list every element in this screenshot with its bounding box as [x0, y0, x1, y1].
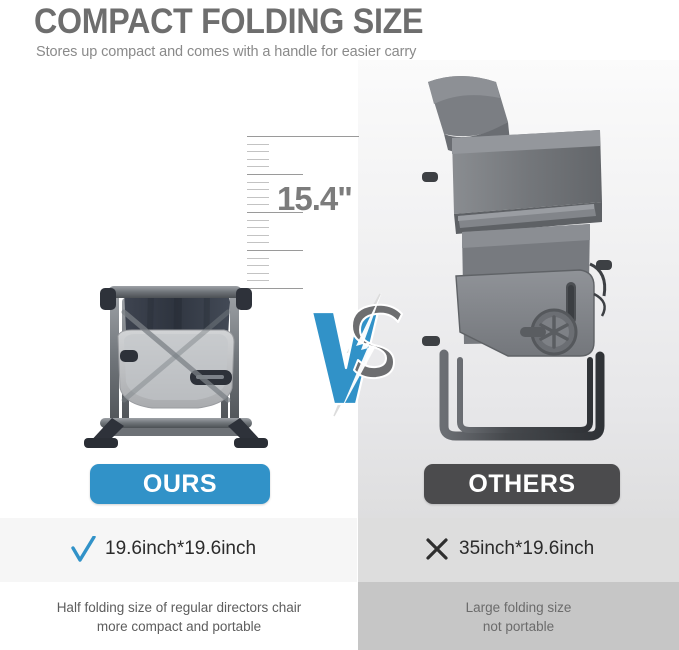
others-dimension-text: 35inch*19.6inch — [459, 538, 594, 560]
ruler-minor-tick — [247, 204, 269, 205]
ours-note: Half folding size of regular directors c… — [0, 598, 358, 636]
others-badge-label: OTHERS — [468, 470, 575, 499]
folded-camping-chair-compact-icon — [78, 276, 274, 452]
page-title: COMPACT FOLDING SIZE — [34, 2, 423, 42]
others-note-line2: not portable — [358, 617, 679, 636]
ruler-minor-tick — [247, 182, 269, 183]
ours-note-line2: more compact and portable — [0, 617, 358, 636]
ruler-minor-tick — [247, 151, 269, 152]
folded-directors-chair-tall-icon — [404, 64, 640, 456]
ruler-minor-tick — [247, 242, 269, 243]
ruler-minor-tick — [247, 197, 269, 198]
ruler-minor-tick — [247, 258, 269, 259]
ours-note-line1: Half folding size of regular directors c… — [0, 598, 358, 617]
ours-product-image — [78, 276, 274, 452]
comparison-infographic: COMPACT FOLDING SIZE Stores up compact a… — [0, 0, 679, 650]
cross-icon — [424, 536, 450, 562]
ruler-major-rule — [247, 250, 303, 251]
others-product-image — [404, 64, 640, 456]
ours-dimension-text: 19.6inch*19.6inch — [105, 538, 256, 560]
others-dimension-row: 35inch*19.6inch — [424, 536, 594, 562]
others-note: Large folding size not portable — [358, 598, 679, 636]
ours-badge-label: OURS — [143, 470, 217, 499]
ruler-minor-tick — [247, 265, 269, 266]
ours-badge[interactable]: OURS — [90, 464, 270, 504]
ruler-minor-tick — [247, 227, 269, 228]
ruler-minor-tick — [247, 144, 269, 145]
others-note-line1: Large folding size — [358, 598, 679, 617]
ruler-minor-tick — [247, 273, 269, 274]
ruler-major-rule — [247, 174, 303, 175]
page-subtitle: Stores up compact and comes with a handl… — [36, 44, 416, 60]
ruler-major-rule — [247, 136, 359, 137]
ruler-minor-tick — [247, 159, 269, 160]
ruler-minor-tick — [247, 220, 269, 221]
versus-lightning-icon — [306, 292, 410, 418]
measurement-label: 15.4" — [277, 180, 352, 218]
check-icon — [70, 536, 96, 562]
ours-dimension-row: 19.6inch*19.6inch — [70, 536, 256, 562]
others-badge[interactable]: OTHERS — [424, 464, 620, 504]
ruler-minor-tick — [247, 189, 269, 190]
ruler-minor-tick — [247, 166, 269, 167]
ruler-minor-tick — [247, 235, 269, 236]
